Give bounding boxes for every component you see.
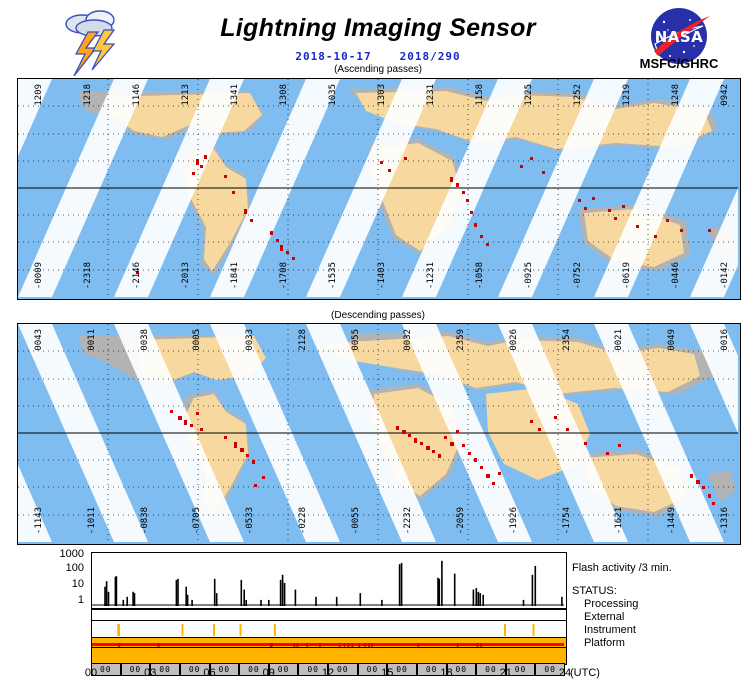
desc-top-tick-1: 0011: [88, 329, 97, 351]
desc-top-tick-5: 2128: [299, 329, 308, 351]
status-label-external: External: [572, 611, 672, 624]
status-label-processing: Processing: [572, 598, 672, 611]
desc-top-tick-13: 0016: [721, 329, 730, 351]
desc-bottom-tick-0: -1143: [35, 507, 44, 534]
asc-top-tick-1: 1218: [84, 84, 93, 106]
asc-bottom-tick-12: -0619: [623, 262, 632, 289]
desc-top-tick-8: 2359: [457, 329, 466, 351]
asc-top-tick-12: 1219: [623, 84, 632, 106]
asc-top-tick-13: 1248: [672, 84, 681, 106]
desc-top-tick-7: 0032: [404, 329, 413, 351]
desc-top-tick-9: 0026: [510, 329, 519, 351]
asc-top-tick-9: 1158: [476, 84, 485, 106]
desc-top-tick-0: 0043: [35, 329, 44, 351]
desc-top-tick-12: 0049: [668, 329, 677, 351]
asc-bottom-tick-6: -1535: [329, 262, 338, 289]
desc-bottom-tick-7: -2232: [404, 507, 413, 534]
x-tick-12: 12: [322, 667, 334, 679]
y-tick-1: 1: [50, 594, 84, 606]
desc-top-tick-10: 2354: [563, 329, 572, 351]
desc-top-tick-11: 0021: [615, 329, 624, 351]
asc-bottom-tick-5: -1708: [280, 262, 289, 289]
asc-bottom-tick-0: -0009: [35, 262, 44, 289]
descending-passes-map[interactable]: [17, 323, 741, 545]
asc-bottom-tick-1: -2318: [84, 262, 93, 289]
y-tick-100: 100: [50, 562, 84, 574]
desc-top-tick-6: 0055: [352, 329, 361, 351]
x-tick-03: 03: [144, 667, 156, 679]
status-label-platform: Platform: [572, 637, 672, 650]
x-tick-00: 00: [85, 667, 97, 679]
asc-top-tick-7: 1303: [378, 84, 387, 106]
desc-bottom-tick-9: -1926: [510, 507, 519, 534]
asc-bottom-tick-7: -1403: [378, 262, 387, 289]
asc-top-tick-11: 1252: [574, 84, 583, 106]
flash-activity-chart[interactable]: [91, 552, 567, 609]
x-tick-21: 21: [500, 667, 512, 679]
svg-text:NASA: NASA: [655, 28, 704, 46]
descending-map-canvas: [18, 324, 738, 542]
asc-top-tick-10: 1225: [525, 84, 534, 106]
asc-top-tick-6: 1035: [329, 84, 338, 106]
desc-bottom-tick-5: -0228: [299, 507, 308, 534]
asc-bottom-tick-13: -0446: [672, 262, 681, 289]
asc-top-tick-0: 1209: [35, 84, 44, 106]
desc-bottom-tick-12: -1449: [668, 507, 677, 534]
asc-bottom-tick-14: -0142: [721, 262, 730, 289]
desc-bottom-tick-2: -0838: [141, 507, 150, 534]
desc-bottom-tick-6: -0055: [352, 507, 361, 534]
desc-top-tick-3: 0005: [193, 329, 202, 351]
asc-bottom-tick-9: -1058: [476, 262, 485, 289]
desc-top-tick-2: 0038: [141, 329, 150, 351]
asc-top-tick-2: 1146: [133, 84, 142, 106]
asc-bottom-tick-10: -0925: [525, 262, 534, 289]
msfc-ghrc-label: MSFC/GHRC: [614, 56, 744, 71]
utc-unit-label: (UTC): [570, 667, 600, 679]
lis-daily-summary-page: Lightning Imaging Sensor 2018-10-172018/…: [0, 0, 756, 680]
asc-bottom-tick-3: -2013: [182, 262, 191, 289]
x-axis: 000306091215182124: [91, 667, 565, 681]
asc-top-tick-3: 1213: [182, 84, 191, 106]
x-tick-18: 18: [440, 667, 452, 679]
date-doy: 2018/290: [400, 50, 461, 63]
desc-bottom-tick-11: -1621: [615, 507, 624, 534]
page-header: Lightning Imaging Sensor 2018-10-172018/…: [0, 0, 756, 72]
plot-legend: Flash activity /3 min. STATUS: Processin…: [572, 562, 672, 650]
flash-activity-label: Flash activity /3 min.: [572, 562, 672, 575]
desc-bottom-tick-8: -2059: [457, 507, 466, 534]
asc-bottom-tick-11: -0752: [574, 262, 583, 289]
desc-bottom-tick-1: -1011: [88, 507, 97, 534]
desc-bottom-tick-13: -1316: [721, 507, 730, 534]
asc-bottom-tick-4: -1841: [231, 262, 240, 289]
flash-bars: [92, 553, 564, 606]
asc-top-tick-4: 1341: [231, 84, 240, 106]
asc-top-tick-5: 1308: [280, 84, 289, 106]
desc-bottom-tick-3: -0705: [193, 507, 202, 534]
descending-pass-caption: (Descending passes): [0, 310, 756, 321]
date-iso: 2018-10-17: [295, 50, 371, 63]
x-tick-09: 09: [263, 667, 275, 679]
asc-top-tick-14: 0942: [721, 84, 730, 106]
y-tick-10: 10: [50, 578, 84, 590]
asc-bottom-tick-8: -1231: [427, 262, 436, 289]
desc-bottom-tick-10: -1754: [563, 507, 572, 534]
asc-top-tick-8: 1231: [427, 84, 436, 106]
activity-plot: 1000 100 10 1 00000000000000000000000000…: [0, 548, 756, 680]
desc-top-tick-4: 0033: [246, 329, 255, 351]
desc-bottom-tick-4: -0533: [246, 507, 255, 534]
status-header: STATUS:: [572, 585, 672, 598]
x-tick-15: 15: [381, 667, 393, 679]
status-label-instrument: Instrument: [572, 624, 672, 637]
y-tick-1000: 1000: [50, 548, 84, 560]
asc-bottom-tick-2: -2146: [133, 262, 142, 289]
x-tick-06: 06: [203, 667, 215, 679]
